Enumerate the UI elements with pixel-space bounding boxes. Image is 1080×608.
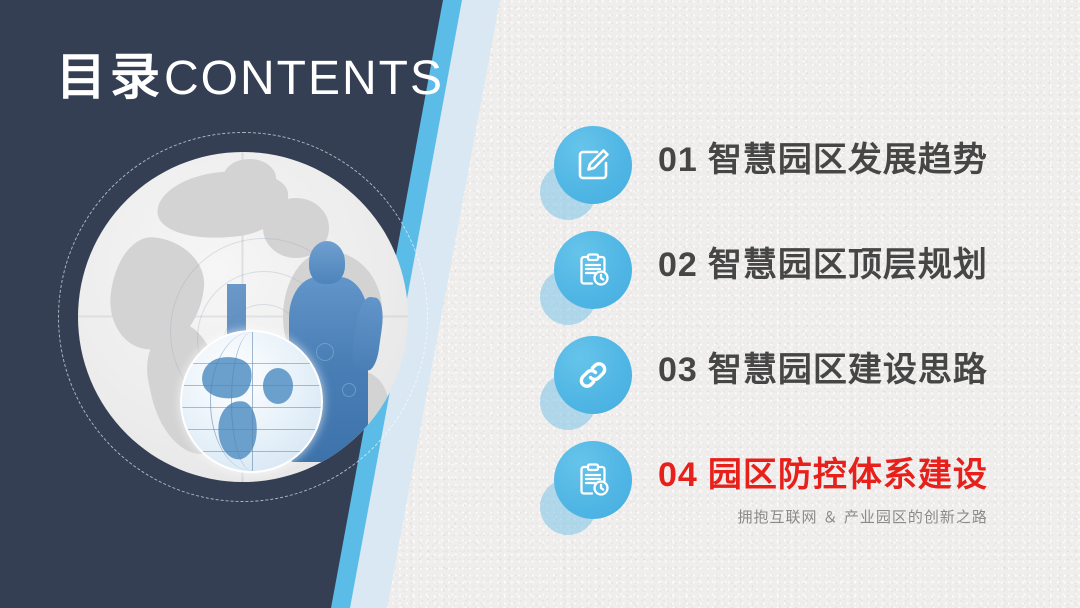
contents-item-title: 01智慧园区发展趋势 (658, 132, 988, 181)
network-node-icon (342, 383, 356, 397)
globe-meridian (231, 332, 274, 471)
globe-parallel (182, 407, 321, 408)
network-node-icon (316, 343, 334, 361)
contents-item-label: 智慧园区建设思路 (708, 351, 988, 389)
contents-item-number: 01 (658, 141, 698, 179)
contents-item-label: 智慧园区顶层规划 (708, 246, 988, 284)
contents-item-04[interactable]: 04园区防控体系建设 拥抱互联网 ＆ 产业园区的创新之路 (540, 433, 1040, 538)
clipboard-clock-icon[interactable] (554, 441, 632, 519)
link-chain-icon[interactable] (554, 336, 632, 414)
contents-item-03[interactable]: 03智慧园区建设思路 (540, 328, 1040, 433)
page-title-en: CONTENTS (164, 52, 444, 105)
contents-item-02[interactable]: 02智慧园区顶层规划 (540, 223, 1040, 328)
contents-item-text: 04园区防控体系建设 拥抱互联网 ＆ 产业园区的创新之路 (658, 447, 988, 527)
contents-list: 01智慧园区发展趋势 02智慧园区顶层规划 (540, 118, 1040, 538)
edit-pencil-icon[interactable] (554, 126, 632, 204)
continent-shape (223, 159, 276, 199)
globe-parallel (182, 429, 321, 430)
contents-item-number: 02 (658, 246, 698, 284)
contents-item-title: 03智慧园区建设思路 (658, 342, 988, 391)
contents-item-01[interactable]: 01智慧园区发展趋势 (540, 118, 1040, 223)
wireframe-globe (180, 330, 323, 473)
globe-parallel (182, 451, 321, 452)
contents-item-title: 04园区防控体系建设 (658, 447, 988, 496)
contents-item-number: 03 (658, 351, 698, 389)
contents-item-text: 02智慧园区顶层规划 (658, 237, 988, 286)
contents-item-subtitle: 拥抱互联网 ＆ 产业园区的创新之路 (658, 506, 988, 527)
slide-canvas: 目录CONTENTS 01智慧园区发展趋势 (0, 0, 1080, 608)
illustration-world-plate (78, 152, 408, 482)
contents-item-label: 园区防控体系建设 (708, 456, 988, 494)
clipboard-clock-icon[interactable] (554, 231, 632, 309)
contents-item-number: 04 (658, 456, 698, 494)
businessman-head (309, 241, 345, 284)
contents-item-text: 03智慧园区建设思路 (658, 342, 988, 391)
contents-item-title: 02智慧园区顶层规划 (658, 237, 988, 286)
contents-item-label: 智慧园区发展趋势 (708, 141, 988, 179)
globe-parallel (182, 385, 321, 386)
contents-item-text: 01智慧园区发展趋势 (658, 132, 988, 181)
page-title-cn: 目录 (56, 49, 164, 105)
globe-parallel (182, 363, 321, 364)
page-title: 目录CONTENTS (56, 50, 444, 106)
